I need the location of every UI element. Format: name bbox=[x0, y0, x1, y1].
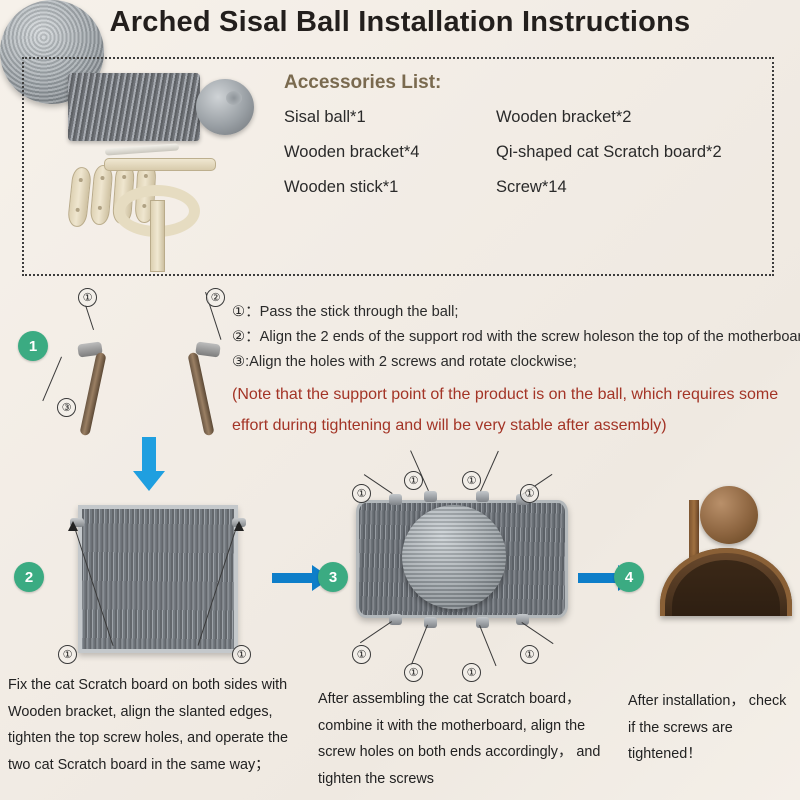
step3-screw-tab bbox=[476, 491, 489, 502]
accessory-name: Qi-shaped cat Scratch board*2 bbox=[496, 143, 722, 162]
step3-callout-bottom-3: ① bbox=[462, 663, 481, 682]
step-number-4: 4 bbox=[614, 562, 644, 592]
step1-left-leg bbox=[79, 352, 106, 436]
step3-callout-bottom-4: ① bbox=[520, 645, 539, 664]
sisal-mat-image bbox=[68, 73, 200, 141]
step3-screw-tab bbox=[476, 617, 489, 628]
step1-line-3: ③:Align the holes with 2 screws and rota… bbox=[232, 350, 788, 375]
callout-leader-line bbox=[521, 622, 553, 644]
accessory-name: Sisal ball*1 bbox=[284, 108, 496, 127]
step1-callout-1: ① bbox=[78, 288, 97, 307]
step-number-3: 3 bbox=[318, 562, 348, 592]
callout-leader-line bbox=[42, 357, 62, 402]
step2-callout-left: ① bbox=[58, 645, 77, 664]
step3-caption: After assembling the cat Scratch board， … bbox=[318, 686, 618, 792]
step1-right-leg bbox=[187, 352, 214, 436]
step4-caption: After installation， check if the screws … bbox=[628, 688, 793, 768]
step1-line-2: ②：Align the 2 ends of the support rod wi… bbox=[232, 325, 788, 350]
accessory-name: Wooden bracket*2 bbox=[496, 108, 631, 127]
list-item: Wooden stick*1 Screw*14 bbox=[284, 178, 764, 213]
step3-screw-tab bbox=[424, 491, 437, 502]
step1-callout-3: ③ bbox=[57, 398, 76, 417]
step2-caption: Fix the cat Scratch board on both sides … bbox=[8, 672, 298, 778]
callout-leader-line bbox=[479, 625, 496, 666]
instruction-sheet: Arched Sisal Ball Installation Instructi… bbox=[0, 0, 800, 800]
right-arrow-icon-3-to-4 bbox=[578, 573, 618, 583]
step3-callout-top-4: ① bbox=[520, 484, 539, 503]
step2-scratch-board-image bbox=[78, 505, 238, 653]
step1-callout-2: ② bbox=[206, 288, 225, 307]
accessories-list: Sisal ball*1 Wooden bracket*2 Wooden bra… bbox=[284, 108, 764, 213]
step3-callout-top-1: ① bbox=[352, 484, 371, 503]
accessories-heading: Accessories List: bbox=[284, 72, 441, 94]
down-arrow-icon bbox=[142, 437, 156, 471]
step1-note-line-1: (Note that the support point of the prod… bbox=[232, 379, 788, 410]
page-title: Arched Sisal Ball Installation Instructi… bbox=[0, 6, 800, 39]
black-arrow-icon bbox=[234, 521, 244, 531]
step-number-1: 1 bbox=[18, 331, 48, 361]
step1-text-block: ①：Pass the stick through the ball; ②：Ali… bbox=[232, 300, 788, 441]
callout-leader-line bbox=[85, 305, 94, 330]
motherboard-stem-image bbox=[150, 200, 165, 272]
step3-callout-top-2: ① bbox=[404, 471, 423, 490]
accessory-name: Screw*14 bbox=[496, 178, 567, 197]
step3-callout-top-3: ① bbox=[462, 471, 481, 490]
step3-screw-tab bbox=[389, 494, 402, 505]
step3-screw-tab bbox=[389, 614, 402, 625]
step1-right-screw-cap bbox=[195, 341, 221, 357]
sisal-ball-image bbox=[196, 79, 254, 135]
step2-callout-right: ① bbox=[232, 645, 251, 664]
callout-leader-line bbox=[411, 625, 428, 666]
step3-callout-bottom-1: ① bbox=[352, 645, 371, 664]
step3-ball-image bbox=[402, 505, 506, 609]
step4-arch-rim bbox=[660, 548, 792, 616]
step-number-2: 2 bbox=[14, 562, 44, 592]
callout-leader-line bbox=[480, 451, 499, 492]
step3-callout-bottom-2: ① bbox=[404, 663, 423, 682]
accessory-name: Wooden stick*1 bbox=[284, 178, 496, 197]
step1-line-1: ①：Pass the stick through the ball; bbox=[232, 300, 788, 325]
step4-ball-image bbox=[700, 486, 758, 544]
motherboard-crossbar-image bbox=[104, 158, 216, 171]
list-item: Wooden bracket*4 Qi-shaped cat Scratch b… bbox=[284, 143, 764, 178]
black-arrow-icon bbox=[68, 521, 78, 531]
step1-note-line-2: effort during tightening and will be ver… bbox=[232, 410, 788, 441]
accessory-name: Wooden bracket*4 bbox=[284, 143, 496, 162]
list-item: Sisal ball*1 Wooden bracket*2 bbox=[284, 108, 764, 143]
callout-leader-line bbox=[360, 621, 392, 643]
right-arrow-icon-2-to-3 bbox=[272, 573, 312, 583]
